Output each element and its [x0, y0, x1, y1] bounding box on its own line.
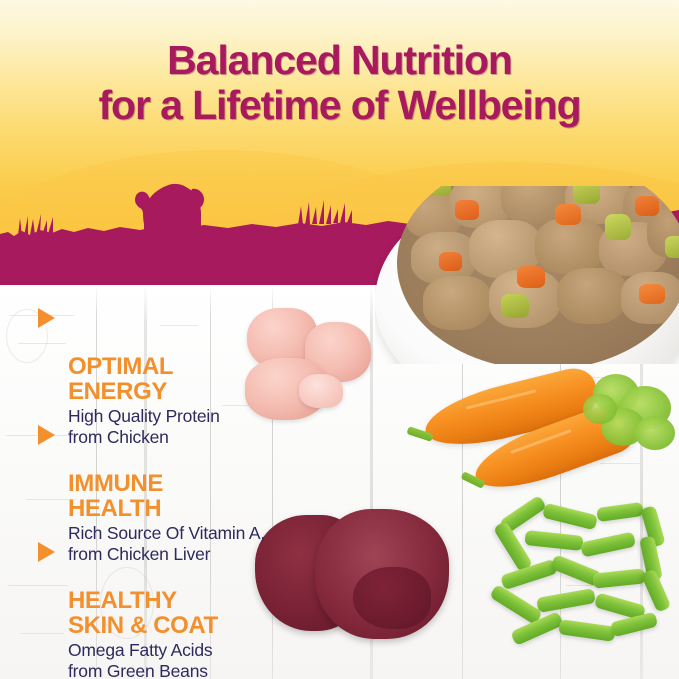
triangle-right-icon	[38, 425, 55, 445]
benefit-heading-text: HEALTHY SKIN & COAT	[68, 587, 218, 639]
stew-contents	[397, 186, 679, 364]
product-feature-image: Balanced Nutrition for a Lifetime of Wel…	[0, 0, 679, 679]
benefit-item-healthy-skin-coat: HEALTHY SKIN & COAT Omega Fatty Acids fr…	[38, 538, 218, 679]
benefit-heading-text: OPTIMAL ENERGY	[68, 353, 173, 405]
benefit-heading: OPTIMAL ENERGY	[38, 304, 220, 404]
green-beans-image	[485, 505, 679, 665]
benefit-heading: HEALTHY SKIN & COAT	[38, 538, 218, 638]
benefit-heading: IMMUNE HEALTH	[38, 421, 265, 521]
bowl-of-stew-image	[375, 186, 679, 364]
benefit-heading-text: IMMUNE HEALTH	[68, 470, 163, 522]
benefits-list: OPTIMAL ENERGY High Quality Protein from…	[0, 285, 300, 679]
triangle-right-icon	[38, 308, 55, 328]
benefit-body-text: Omega Fatty Acids from Green Beans	[38, 640, 218, 679]
triangle-right-icon	[38, 542, 55, 562]
